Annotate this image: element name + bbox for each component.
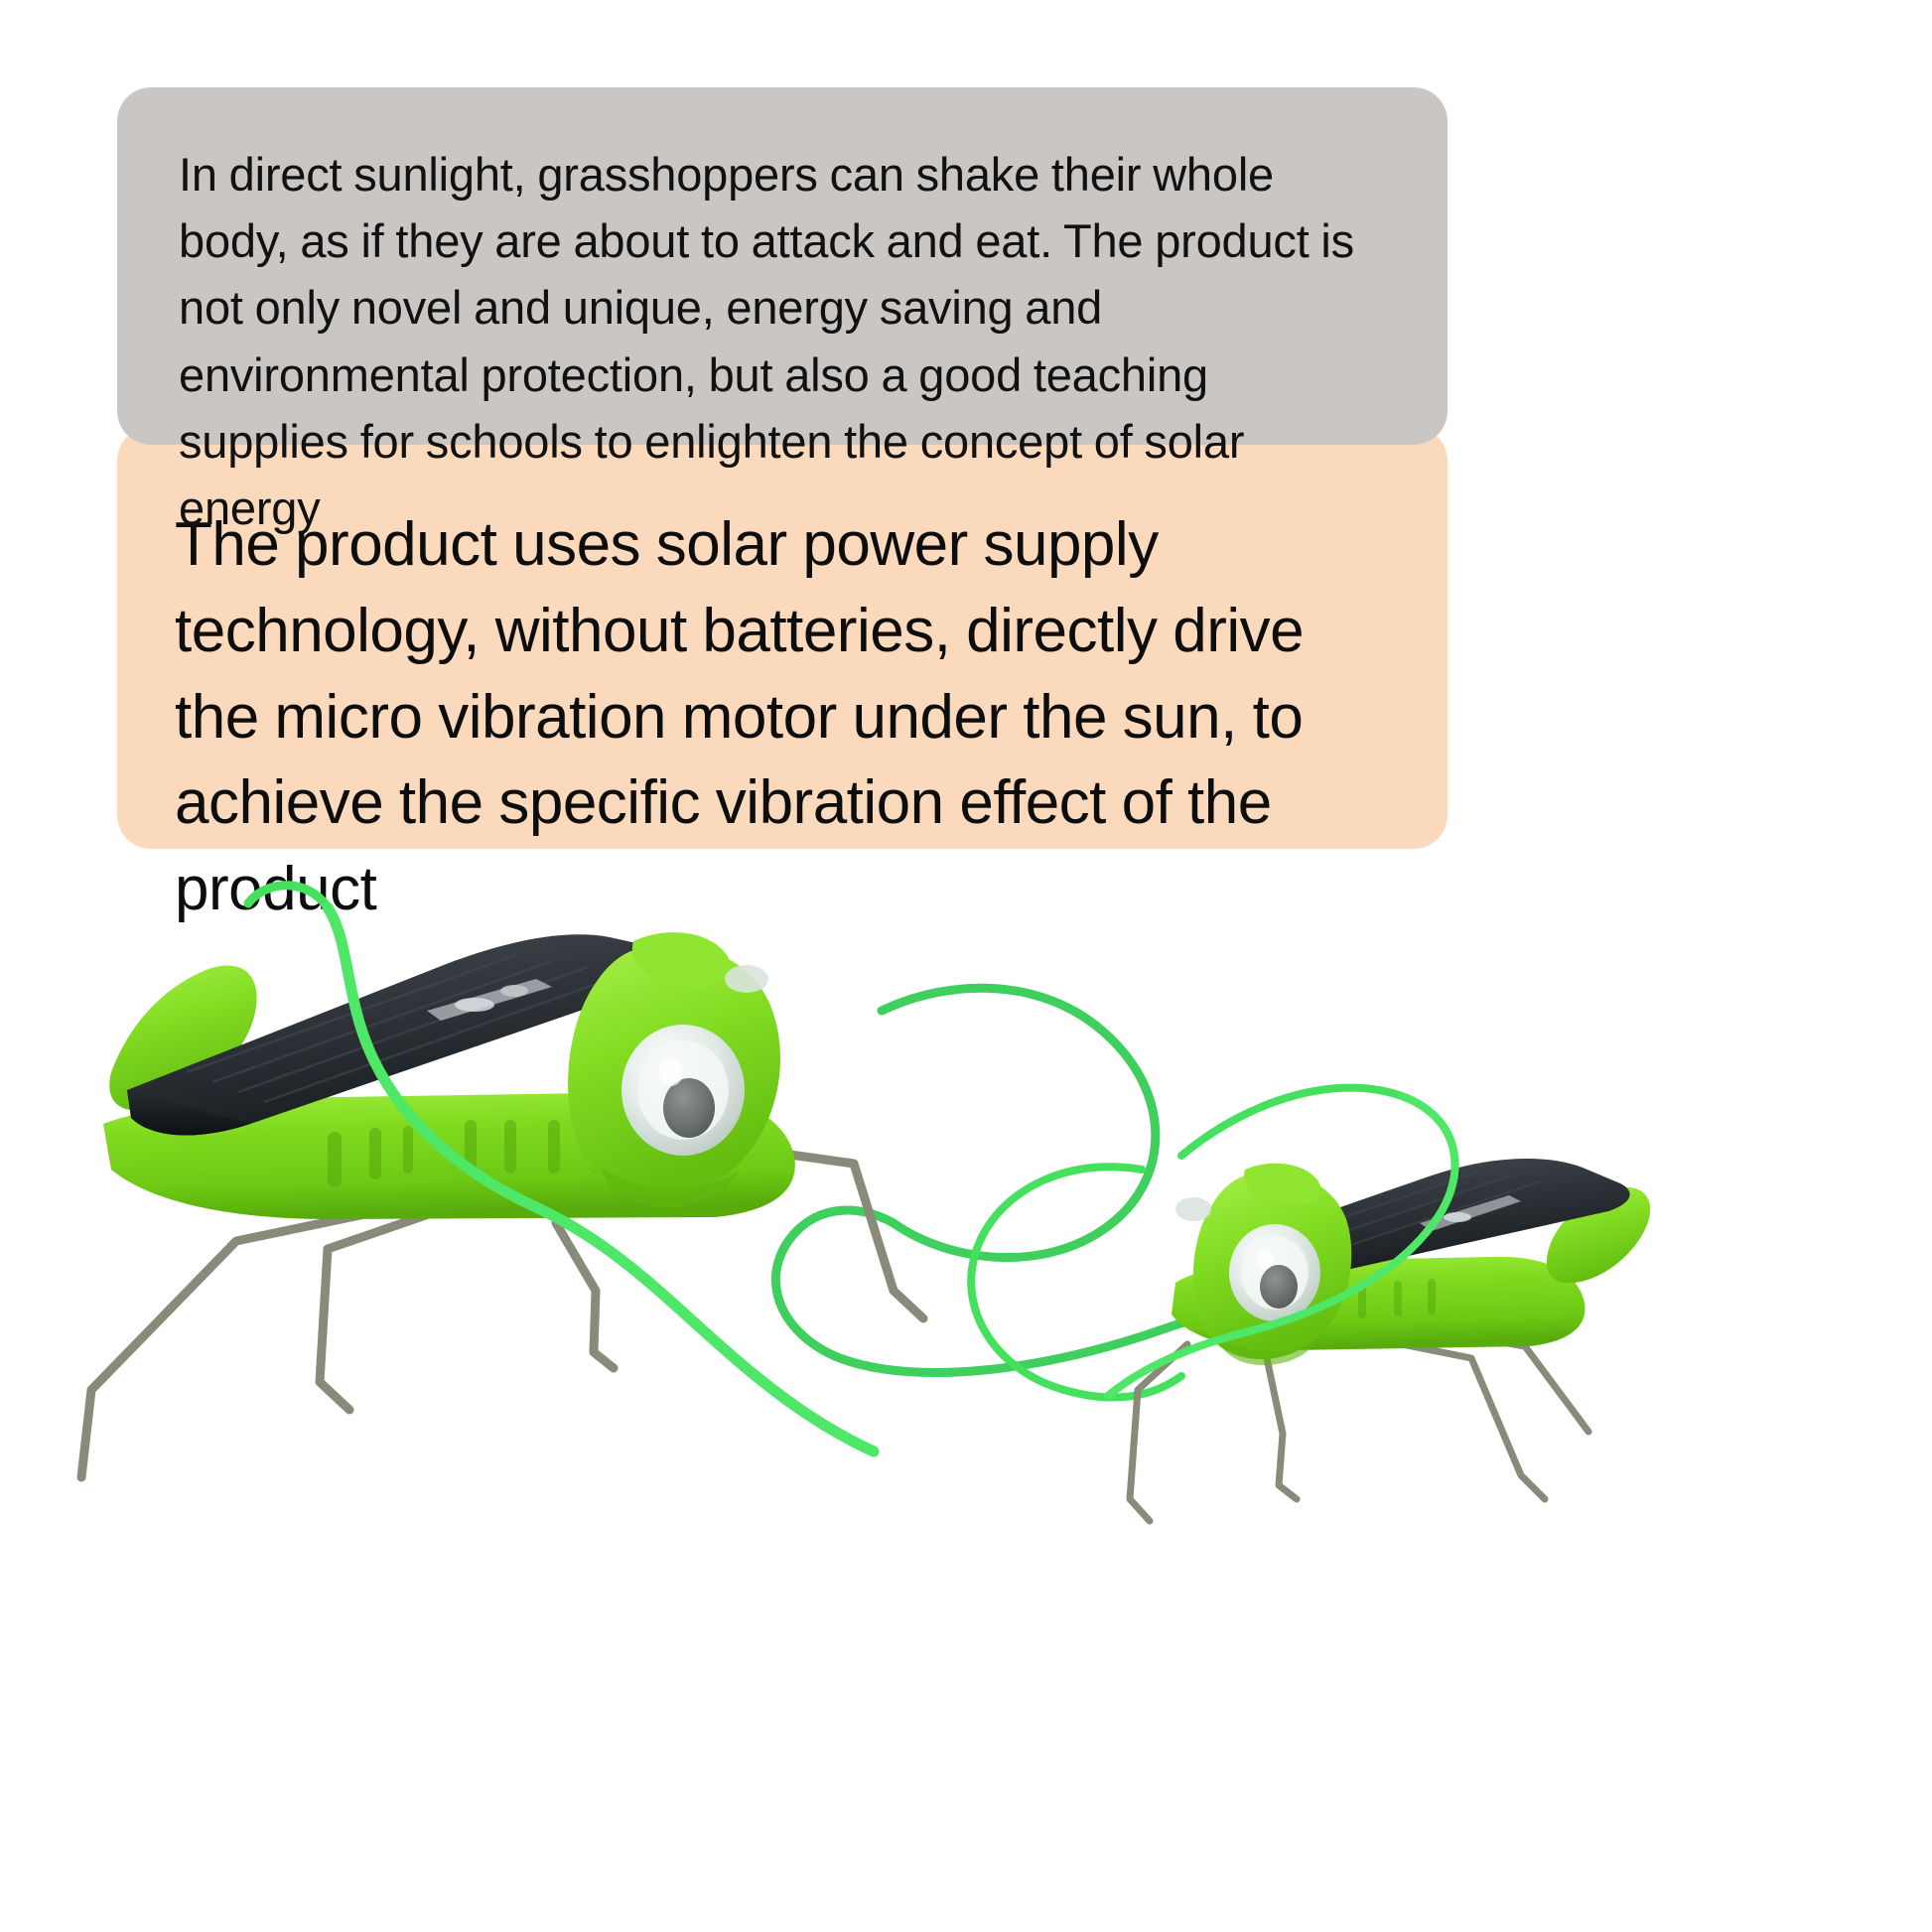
antenna-large-right	[882, 988, 1156, 1257]
leg-rear-small	[1382, 1340, 1545, 1499]
info-panel-gray: In direct sunlight, grasshoppers can sha…	[117, 87, 1448, 445]
large-grasshopper-eye	[621, 1025, 745, 1156]
small-grasshopper-eye	[1229, 1224, 1320, 1321]
product-photo	[0, 774, 1932, 1932]
leg-mid-small	[1267, 1358, 1297, 1499]
large-grasshopper-sensor-nub	[725, 965, 768, 993]
page-root: The product uses solar power supply tech…	[0, 0, 1932, 1932]
info-panel-gray-text: In direct sunlight, grasshoppers can sha…	[179, 141, 1386, 541]
antenna-small-left	[971, 1167, 1181, 1397]
large-grasshopper	[81, 932, 923, 1477]
leg-rear-left-b	[320, 1207, 449, 1410]
small-grasshopper-legs	[1130, 1330, 1588, 1521]
small-grasshopper-sensor-nub	[1175, 1197, 1211, 1221]
leg-rear-left	[81, 1201, 427, 1477]
